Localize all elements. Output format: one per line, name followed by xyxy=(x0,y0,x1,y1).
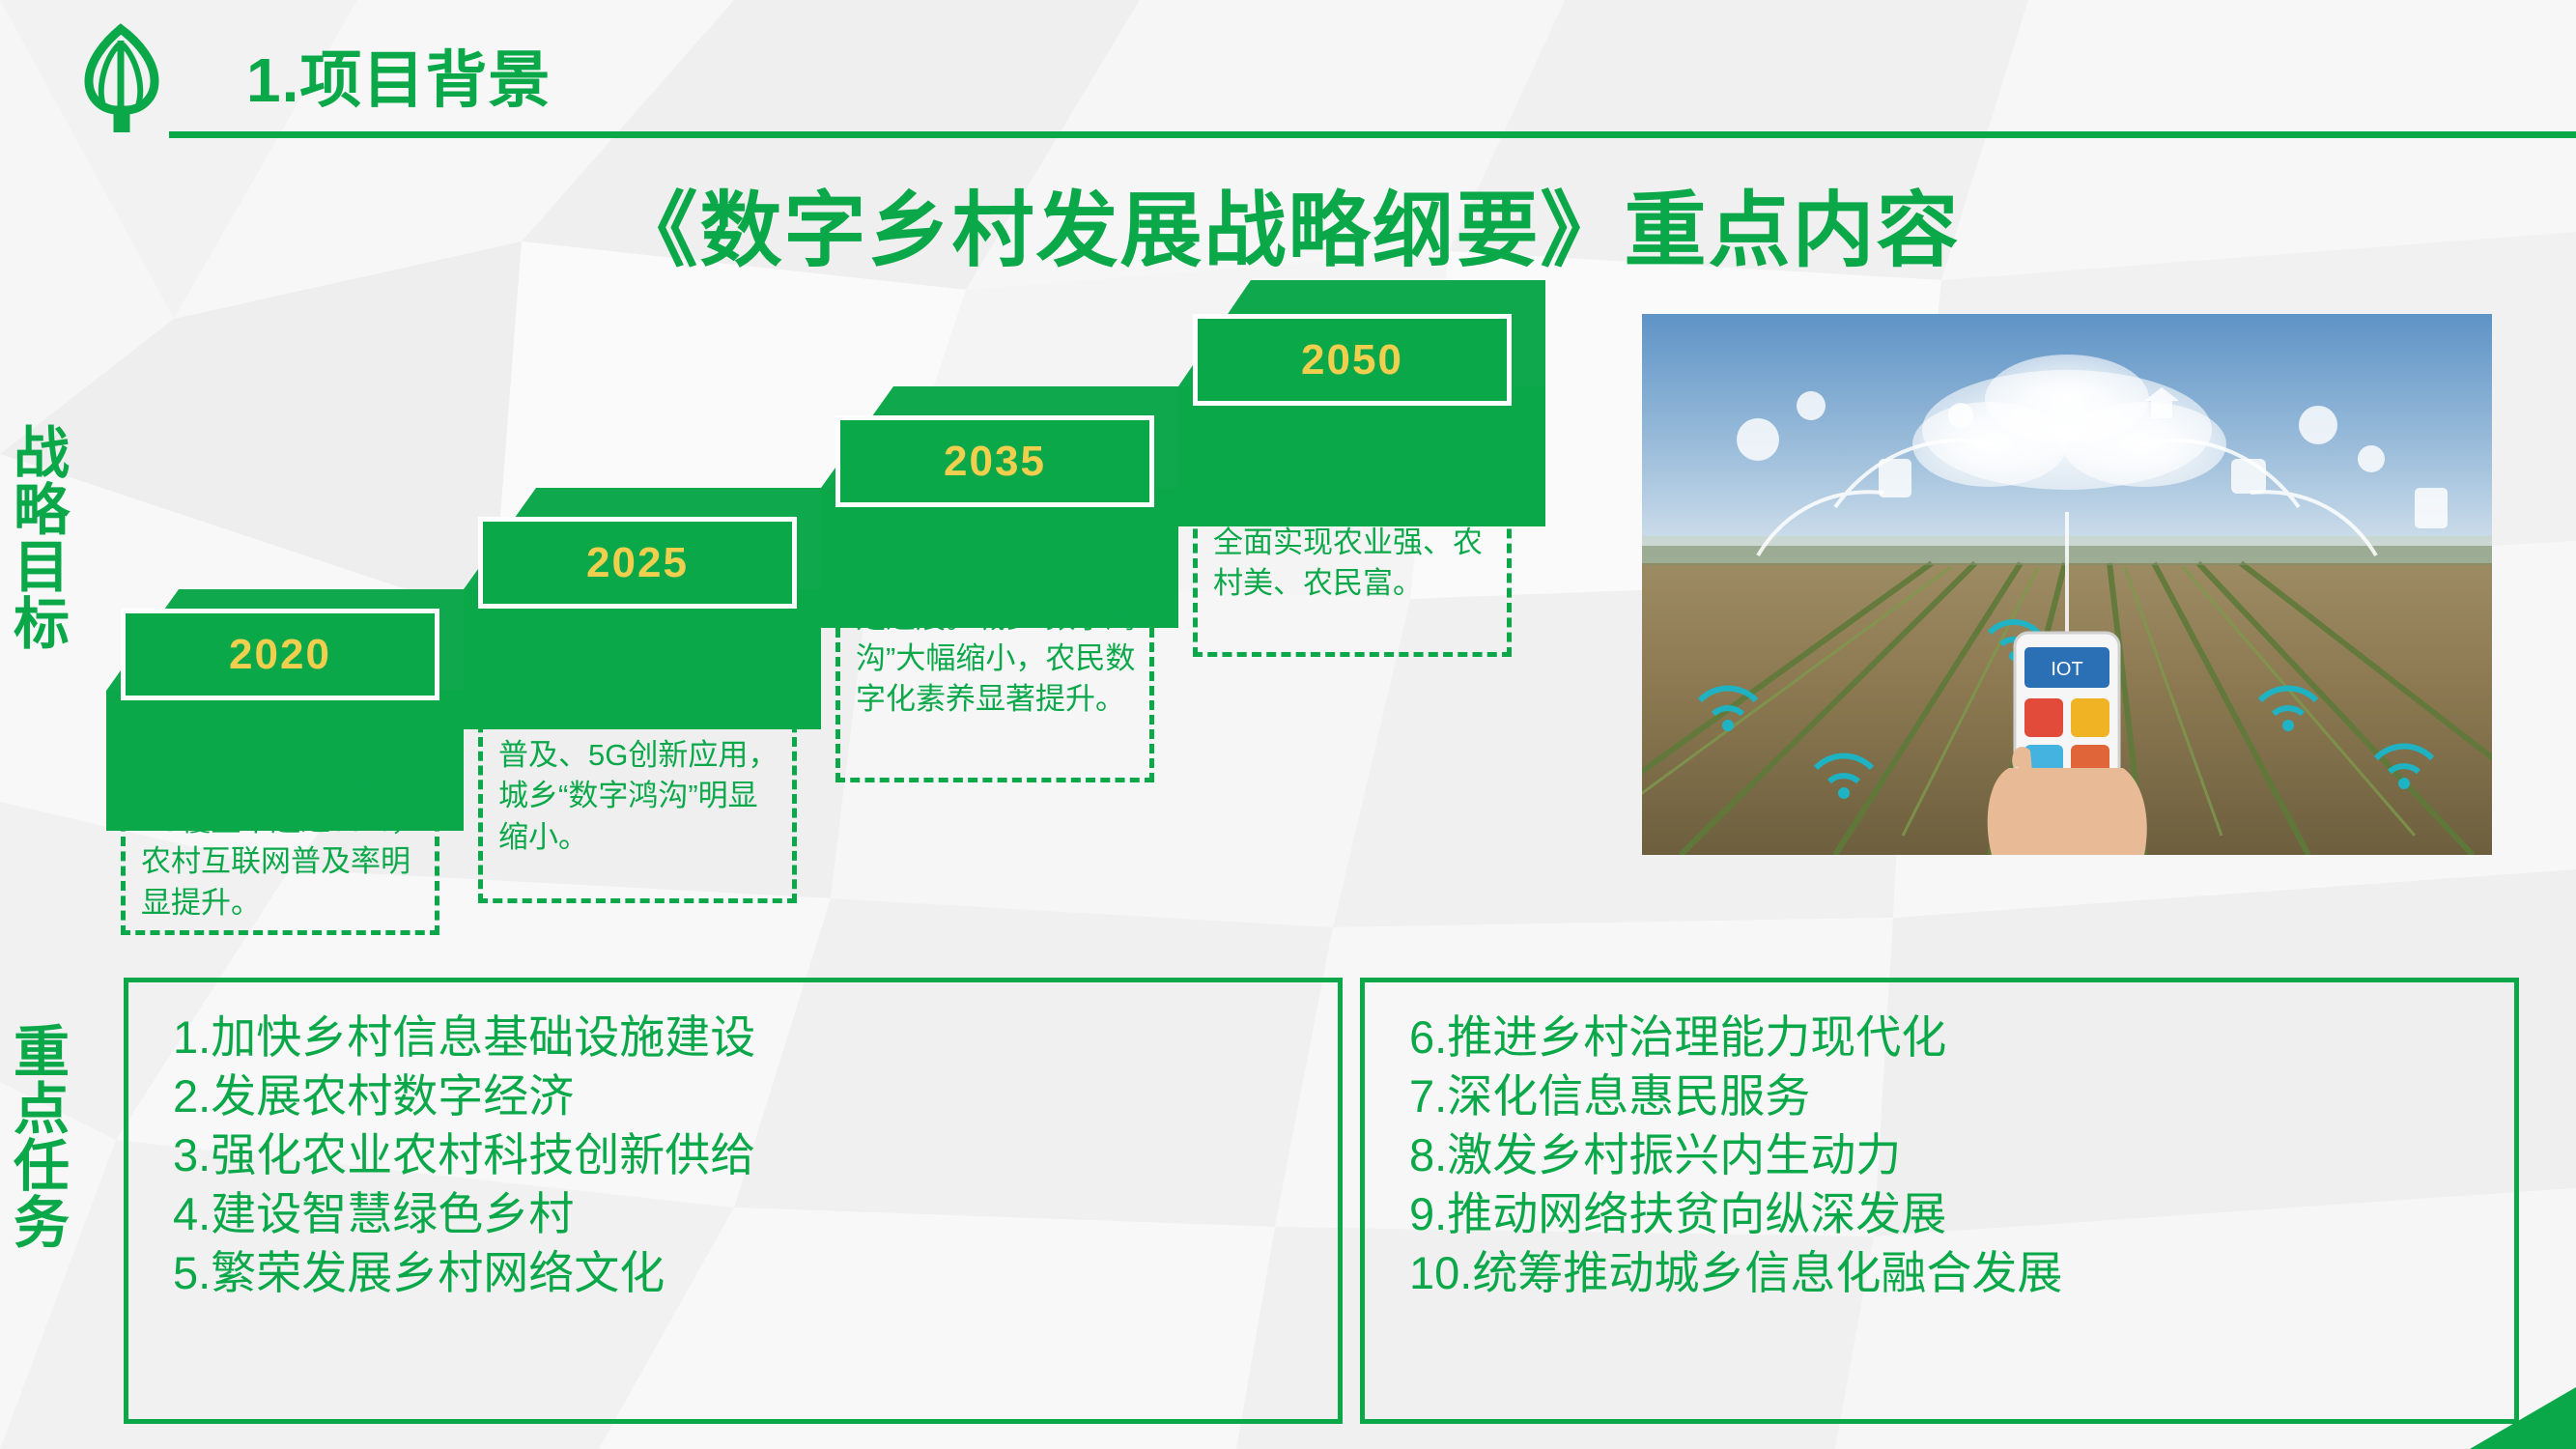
section-label-strategic-goal: 战 略 目 标 xyxy=(8,425,75,654)
year-label: 2020 xyxy=(229,631,331,679)
year-label: 2035 xyxy=(944,438,1046,486)
list-item: 9.推动网络扶贫向纵深发展 xyxy=(1409,1184,2481,1243)
description-text: 全面建成数字乡村，助力乡村全面振兴，全面实现农业强、农村美、农民富。 xyxy=(1213,444,1483,600)
year-label: 2050 xyxy=(1301,336,1403,384)
list-item: 10.统筹推动城乡信息化融合发展 xyxy=(1409,1243,2481,1302)
leaf-icon xyxy=(75,21,167,132)
year-chip-2035[interactable]: 2035 xyxy=(835,415,1154,507)
phone-screen-label: IOT xyxy=(2051,659,2082,680)
list-item: 3.强化农业农村科技创新供给 xyxy=(173,1125,1305,1184)
list-item: 1.加快乡村信息基础设施建设 xyxy=(173,1008,1305,1066)
year-chip-2050[interactable]: 2050 xyxy=(1193,314,1512,406)
description-text: 数字乡村建设取得重要进展。乡村4G深化普及、5G创新应用，城乡“数字鸿沟”明显缩… xyxy=(498,657,778,854)
step-description-2050: 全面建成数字乡村，助力乡村全面振兴，全面实现农业强、农村美、农民富。 xyxy=(1193,425,1512,657)
step-description-2025: 数字乡村建设取得重要进展。乡村4G深化普及、5G创新应用，城乡“数字鸿沟”明显缩… xyxy=(478,638,797,903)
smart-agriculture-photo: IOT xyxy=(1642,314,2492,855)
list-item: 6.推进乡村治理能力现代化 xyxy=(1409,1008,2481,1066)
list-item: 7.深化信息惠民服务 xyxy=(1409,1066,2481,1125)
key-tasks-right-panel: 6.推进乡村治理能力现代化 7.深化信息惠民服务 8.激发乡村振兴内生动力 9.… xyxy=(1360,978,2519,1424)
description-text: 数字乡村建设取得长足进展。城乡“数字鸿沟”大幅缩小，农民数字化素养显著提升。 xyxy=(856,560,1135,716)
step-description-2020: 数字乡村建设取得初步进展。全国行政村4G覆盖率超过98%，农村互联网普及率明显提… xyxy=(121,703,439,935)
list-item: 8.激发乡村振兴内生动力 xyxy=(1409,1125,2481,1184)
list-item: 2.发展农村数字经济 xyxy=(173,1066,1305,1125)
page-title: 《数字乡村发展战略纲要》重点内容 xyxy=(0,164,2576,283)
step-description-2035: 数字乡村建设取得长足进展。城乡“数字鸿沟”大幅缩小，农民数字化素养显著提升。 xyxy=(835,541,1154,782)
page-section-title: 1.项目背景 xyxy=(246,31,551,120)
section-label-key-tasks: 重 点 任 务 xyxy=(8,1024,75,1253)
key-tasks-left-panel: 1.加快乡村信息基础设施建设 2.发展农村数字经济 3.强化农业农村科技创新供给… xyxy=(124,978,1343,1424)
slide-root: 1.项目背景 《数字乡村发展战略纲要》重点内容 战 略 目 标 重 点 任 务 … xyxy=(0,0,2576,1449)
year-chip-2025[interactable]: 2025 xyxy=(478,517,797,609)
description-text: 数字乡村建设取得初步进展。全国行政村4G覆盖率超过98%，农村互联网普及率明显提… xyxy=(141,723,420,920)
year-chip-2020[interactable]: 2020 xyxy=(121,609,439,700)
list-item: 4.建设智慧绿色乡村 xyxy=(173,1184,1305,1243)
corner-accent-triangle xyxy=(2460,1387,2576,1449)
list-item: 5.繁荣发展乡村网络文化 xyxy=(173,1243,1305,1302)
header-divider xyxy=(169,131,2576,138)
year-label: 2025 xyxy=(586,539,689,587)
